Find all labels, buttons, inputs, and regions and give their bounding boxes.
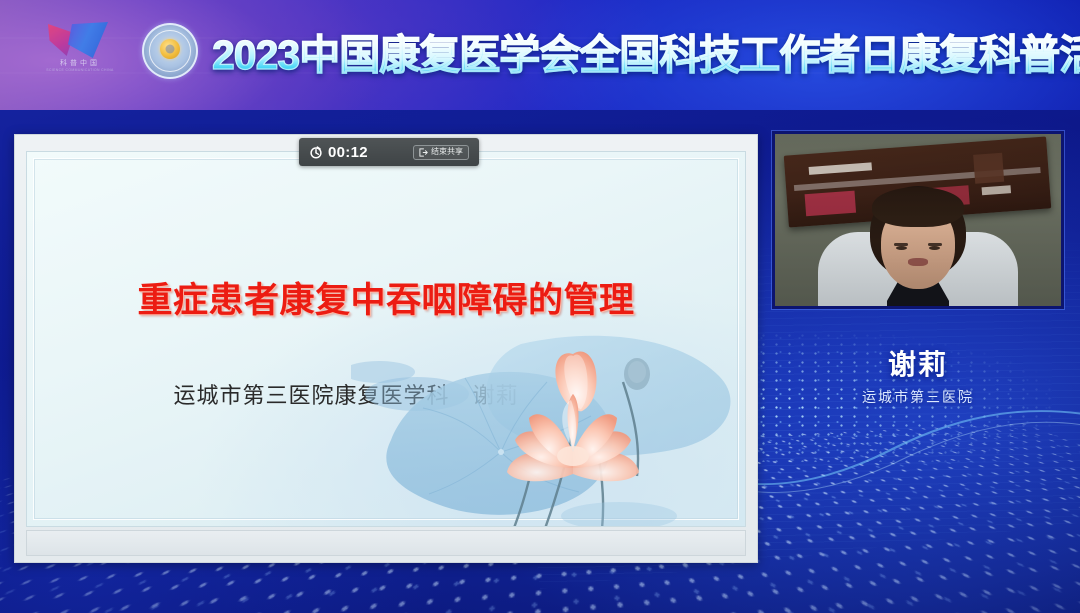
kepu-china-mark bbox=[44, 22, 112, 58]
slide-inner-frame bbox=[33, 158, 739, 520]
speaker-video-feed bbox=[775, 134, 1061, 306]
screen-share-toolbar[interactable]: 00:12 结束共享 bbox=[299, 138, 479, 166]
event-header-banner: 科普中国 SCIENCE COMMUNICATION CHINA 2023中国康… bbox=[0, 0, 1080, 110]
slide-canvas: 重症患者康复中吞咽障碍的管理 运城市第三医院康复医学科 谢莉 bbox=[26, 151, 746, 527]
speaker-organization: 运城市第三医院 bbox=[772, 387, 1064, 407]
kepu-china-label: 科普中国 bbox=[44, 60, 116, 67]
slide-subtitle: 运城市第三医院康复医学科 谢莉 bbox=[27, 378, 745, 410]
stop-share-label: 结束共享 bbox=[431, 148, 463, 156]
stopwatch-icon bbox=[309, 145, 323, 159]
lotus-illustration-icon bbox=[351, 320, 746, 527]
stop-share-button[interactable]: 结束共享 bbox=[413, 145, 469, 160]
kepu-wing-right bbox=[68, 22, 108, 58]
shared-slide-window[interactable]: 重症患者康复中吞咽障碍的管理 运城市第三医院康复医学科 谢莉 bbox=[14, 134, 758, 563]
kepu-china-logo-icon: 科普中国 SCIENCE COMMUNICATION CHINA bbox=[44, 22, 116, 80]
slide-status-bar bbox=[26, 530, 746, 556]
speaker-eye-left bbox=[896, 246, 907, 250]
cabinet-dark-item bbox=[974, 153, 1005, 184]
cabinet-white-item-2 bbox=[982, 185, 1011, 195]
broadcast-screen: 科普中国 SCIENCE COMMUNICATION CHINA 2023中国康… bbox=[0, 0, 1080, 613]
speaker-mouth bbox=[908, 258, 928, 266]
kepu-china-sublabel: SCIENCE COMMUNICATION CHINA bbox=[44, 69, 116, 72]
share-timer-value: 00:12 bbox=[328, 145, 368, 160]
speaker-name: 谢莉 bbox=[772, 348, 1064, 382]
speaker-fringe bbox=[872, 187, 964, 227]
speaker-video-tile[interactable] bbox=[772, 131, 1064, 309]
share-timer: 00:12 bbox=[309, 145, 368, 160]
carm-emblem-core bbox=[160, 39, 180, 59]
speaker-eye-right bbox=[929, 246, 940, 250]
speaker-caption: 谢莉 运城市第三医院 bbox=[772, 348, 1064, 407]
cabinet-red-item-1 bbox=[805, 191, 856, 216]
slide-title: 重症患者康复中吞咽障碍的管理 bbox=[27, 272, 745, 323]
carm-emblem-icon bbox=[142, 23, 198, 79]
event-title: 2023中国康复医学会全国科技工作者日康复科普活动 bbox=[212, 27, 1080, 83]
header-logos: 科普中国 SCIENCE COMMUNICATION CHINA bbox=[44, 22, 198, 80]
exit-share-icon bbox=[419, 148, 428, 157]
cabinet-white-item bbox=[809, 162, 873, 175]
